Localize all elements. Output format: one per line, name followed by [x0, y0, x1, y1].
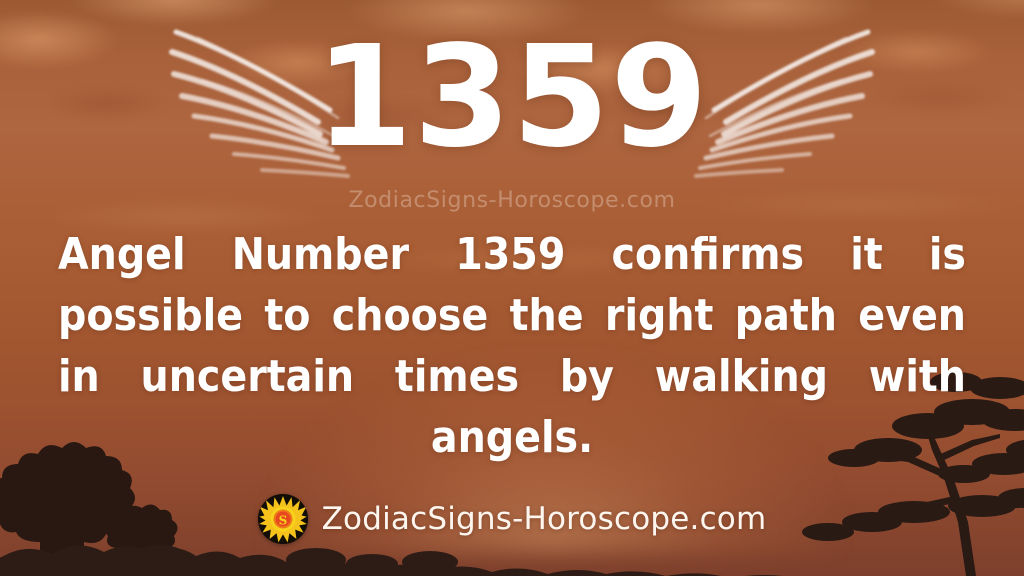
message-line-3: in uncertain times by walking with: [58, 346, 966, 407]
site-footer: S ZodiacSigns-Horoscope.com: [0, 494, 1024, 544]
message-line-2: possible to choose the right path even: [58, 285, 966, 346]
site-name-text: ZodiacSigns-Horoscope.com: [322, 501, 767, 537]
message-text: Angel Number 1359 confirms it is possibl…: [58, 224, 966, 468]
message-line-4: angels.: [58, 407, 966, 468]
message-line-1: Angel Number 1359 confirms it is: [58, 224, 966, 285]
logo-letter: S: [278, 514, 287, 528]
sun-burst-icon: S: [258, 494, 308, 544]
zodiac-sun-logo-icon: S: [258, 494, 308, 544]
watermark-text: ZodiacSigns-Horoscope.com: [0, 188, 1024, 213]
angel-number-headline: 1359: [0, 28, 1024, 168]
poster-canvas: 1359 ZodiacSigns-Horoscope.com Angel Num…: [0, 0, 1024, 576]
